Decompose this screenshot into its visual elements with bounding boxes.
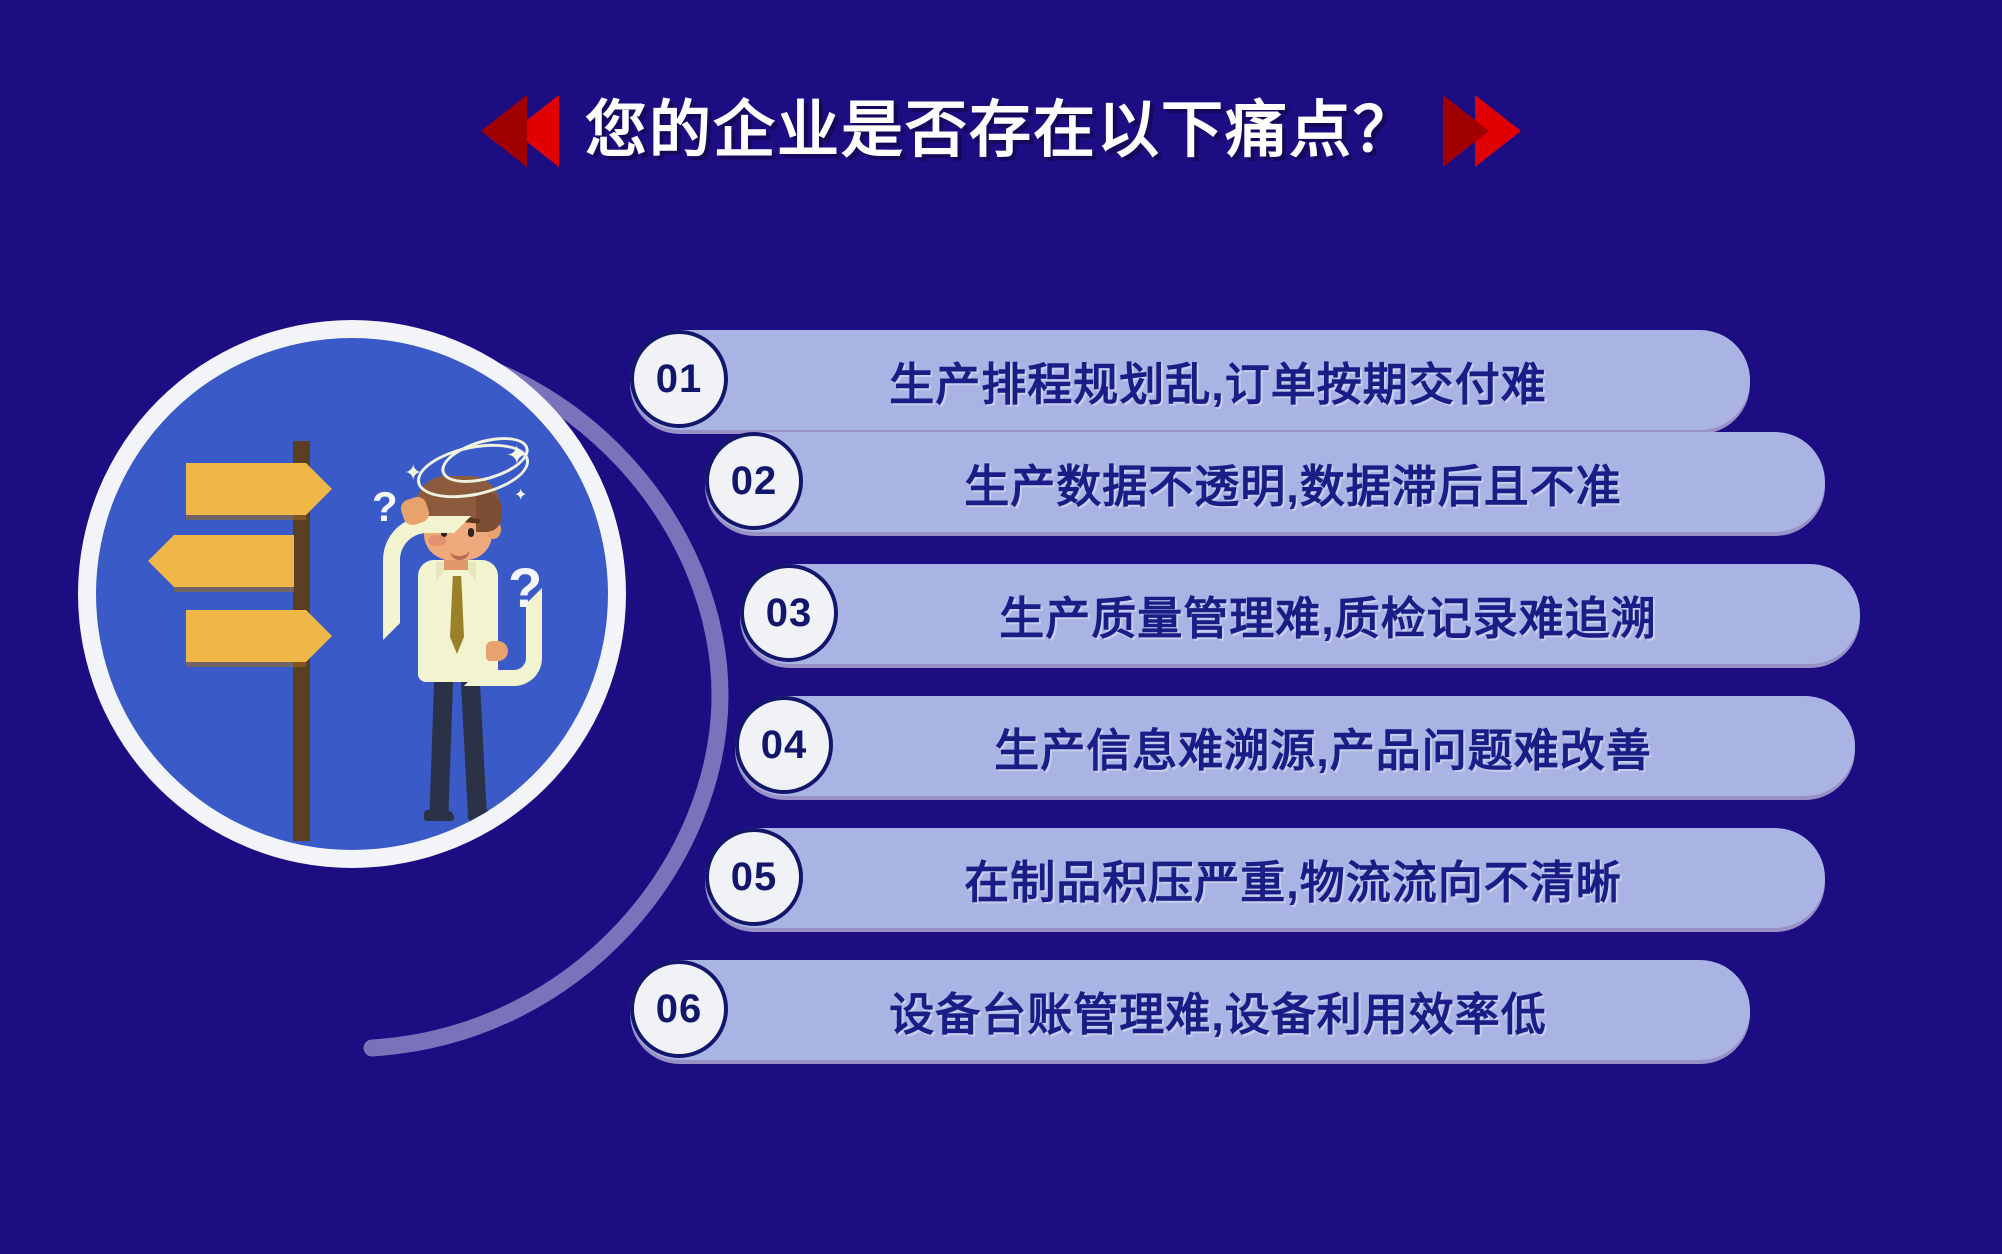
list-item-number: 02 [705, 432, 803, 530]
list-item-number: 03 [740, 564, 838, 662]
list-item-label: 在制品积压严重,物流流向不清晰 [705, 828, 1825, 928]
list-item[interactable]: 生产质量管理难,质检记录难追溯 03 [740, 564, 1860, 664]
list-item-number: 05 [705, 828, 803, 926]
list-item[interactable]: 生产排程规划乱,订单按期交付难 01 [630, 330, 1750, 430]
list-item[interactable]: 在制品积压严重,物流流向不清晰 05 [705, 828, 1825, 928]
list-item[interactable]: 生产数据不透明,数据滞后且不准 02 [705, 432, 1825, 532]
list-item-label: 设备台账管理难,设备利用效率低 [630, 960, 1750, 1060]
list-item[interactable]: 生产信息难溯源,产品问题难改善 04 [735, 696, 1855, 796]
list-item-number: 06 [630, 960, 728, 1058]
pain-point-list: 生产排程规划乱,订单按期交付难 01 生产数据不透明,数据滞后且不准 02 生产… [0, 0, 2002, 1254]
list-item[interactable]: 设备台账管理难,设备利用效率低 06 [630, 960, 1750, 1060]
list-item-number: 04 [735, 696, 833, 794]
list-item-label: 生产质量管理难,质检记录难追溯 [740, 564, 1860, 664]
list-item-label: 生产数据不透明,数据滞后且不准 [705, 432, 1825, 532]
list-item-label: 生产排程规划乱,订单按期交付难 [630, 330, 1750, 430]
list-item-number: 01 [630, 330, 728, 428]
list-item-label: 生产信息难溯源,产品问题难改善 [735, 696, 1855, 796]
slide-canvas: 您的企业是否存在以下痛点？ [0, 0, 2002, 1254]
